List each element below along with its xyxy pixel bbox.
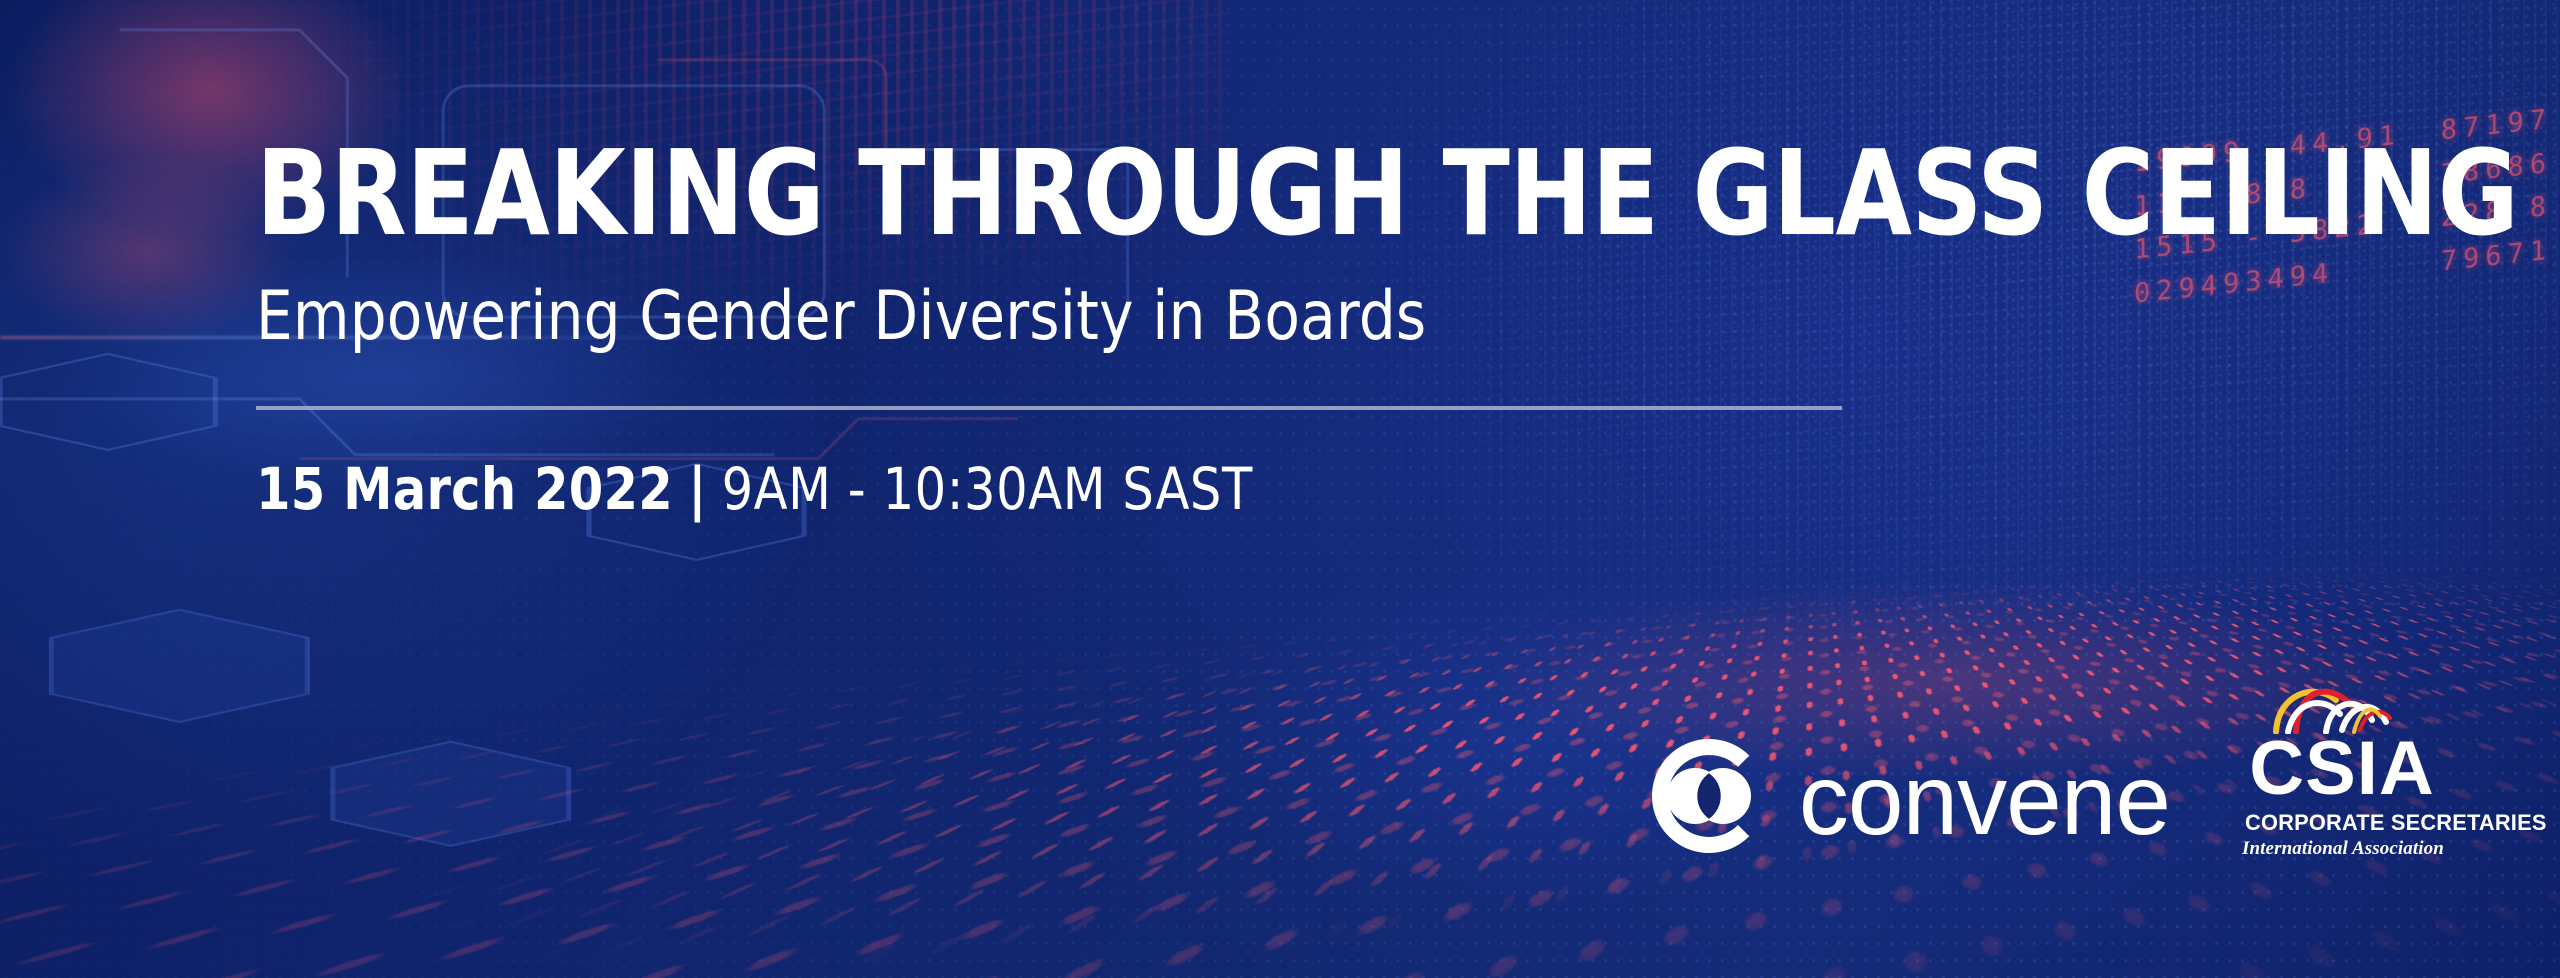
banner-content: BREAKING THROUGH THE GLASS CEILING Empow… (256, 0, 2560, 518)
webinar-banner: 19099 44.9111 8781515 - 5822029493494 87… (0, 0, 2560, 978)
csia-acronym: CSIA (2242, 736, 2442, 803)
csia-tagline-primary: CORPORATE SECRETARIES (2245, 810, 2439, 836)
convene-logo: convene (1645, 732, 2170, 860)
divider-rule (256, 406, 1842, 410)
banner-headline: BREAKING THROUGH THE GLASS CEILING (256, 138, 2518, 249)
convene-wordmark: convene (1799, 750, 2170, 850)
event-time: 9AM - 10:30AM SAST (722, 455, 1253, 523)
event-date: 15 March 2022 (256, 455, 673, 523)
logo-row: convene CSIA CORPORATE SECRETARIES Inter… (1645, 678, 2442, 860)
red-glow-secondary (0, 156, 300, 346)
convene-circle-venn-icon (1645, 732, 1773, 860)
event-datetime: 15 March 2022|9AM - 10:30AM SAST (256, 460, 2560, 518)
banner-subheadline: Empowering Gender Diversity in Boards (256, 283, 2560, 351)
csia-tagline-secondary: International Association (2242, 838, 2442, 860)
datetime-separator: | (673, 455, 722, 523)
csia-logo: CSIA CORPORATE SECRETARIES International… (2242, 678, 2442, 860)
